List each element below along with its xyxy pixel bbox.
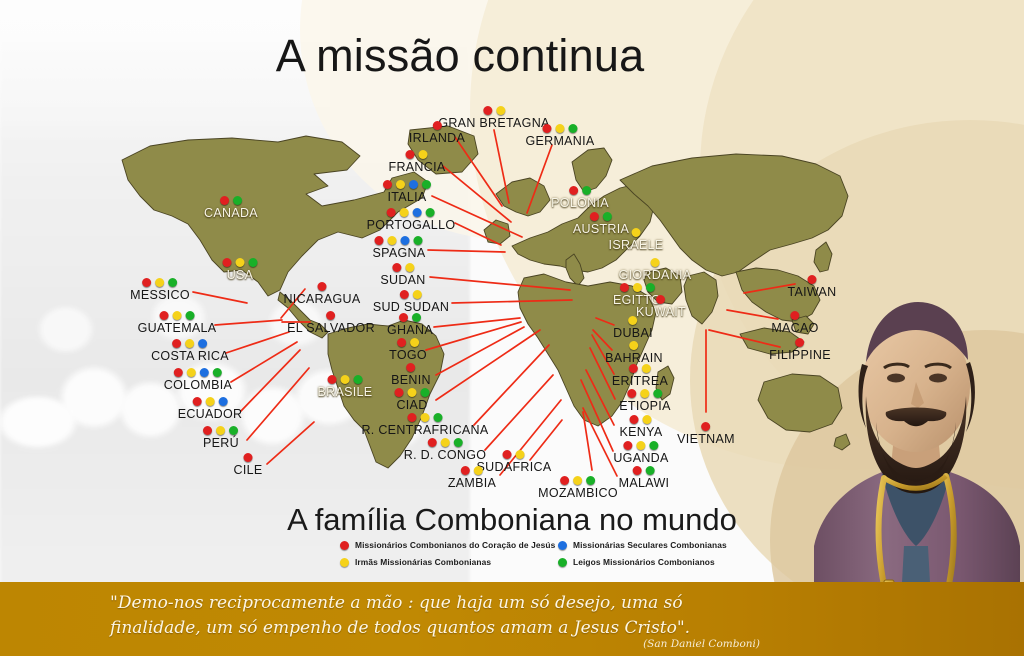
dot-red-icon (569, 186, 578, 195)
legend-swatch-red-icon (340, 541, 349, 550)
dot-green-icon (650, 441, 659, 450)
country-label-mozambico[interactable]: MOZAMBICO (538, 476, 618, 499)
country-label-irlanda[interactable]: IRLANDA (409, 121, 465, 144)
dot-red-icon (173, 339, 182, 348)
dot-red-icon (387, 208, 396, 217)
presence-dots (619, 389, 670, 399)
country-label-spagna[interactable]: SPAGNA (373, 236, 426, 259)
country-label-guatemala[interactable]: GUATEMALA (138, 311, 217, 334)
dot-red-icon (375, 236, 384, 245)
country-name: USA (223, 269, 258, 281)
dot-green-icon (646, 466, 655, 475)
country-name: TOGO (389, 349, 427, 361)
presence-dots (151, 339, 229, 349)
dot-red-icon (318, 282, 327, 291)
legend-item-yellow: Irmãs Missionárias Combonianas (340, 557, 558, 567)
country-label-israele[interactable]: ISRAELE (609, 228, 664, 251)
dot-yellow-icon (632, 283, 641, 292)
country-label-giordania[interactable]: GIORDANIA (619, 258, 692, 281)
country-name: BENIN (391, 374, 431, 386)
dot-red-icon (629, 364, 638, 373)
presence-dots (619, 466, 670, 476)
dot-yellow-icon (474, 466, 483, 475)
country-name: SPAGNA (373, 247, 426, 259)
presence-dots (138, 311, 217, 321)
page-title: A missão continua (0, 30, 920, 82)
dot-green-icon (412, 313, 421, 322)
country-label-colombia[interactable]: COLOMBIA (164, 368, 232, 391)
legend-item-red: Missionários Combonianos do Coração de J… (340, 540, 558, 550)
dot-yellow-icon (173, 311, 182, 320)
dot-yellow-icon (574, 476, 583, 485)
dot-yellow-icon (419, 150, 428, 159)
dot-red-icon (630, 415, 639, 424)
dot-yellow-icon (628, 316, 637, 325)
presence-dots (404, 438, 486, 448)
country-name: GHANA (387, 324, 433, 336)
dot-red-icon (392, 263, 401, 272)
presence-dots (477, 450, 552, 460)
dot-red-icon (395, 388, 404, 397)
country-name: MESSICO (130, 289, 190, 301)
country-label-el-salvador[interactable]: EL SALVADOR (287, 311, 375, 334)
dot-yellow-icon (400, 208, 409, 217)
dot-yellow-icon (413, 290, 422, 299)
dot-red-icon (143, 278, 152, 287)
country-name: POLONIA (551, 197, 609, 209)
dot-red-icon (633, 466, 642, 475)
dot-red-icon (192, 397, 201, 406)
country-label-bahrain[interactable]: BAHRAIN (605, 341, 663, 364)
dot-red-icon (220, 196, 229, 205)
dot-yellow-icon (388, 236, 397, 245)
dot-red-icon (590, 212, 599, 221)
country-name: COLOMBIA (164, 379, 232, 391)
country-name: CANADA (204, 207, 258, 219)
dot-red-icon (796, 338, 805, 347)
dot-blue-icon (409, 180, 418, 189)
country-name: MOZAMBICO (538, 487, 618, 499)
presence-dots (130, 278, 190, 288)
dot-yellow-icon (410, 338, 419, 347)
country-name: CIAD (395, 399, 430, 411)
country-name: PORTOGALLO (367, 219, 456, 231)
dot-yellow-icon (156, 278, 165, 287)
presence-dots (613, 441, 668, 451)
presence-dots (391, 363, 431, 373)
country-label-germania[interactable]: GERMANIA (525, 124, 594, 147)
country-name: IRLANDA (409, 132, 465, 144)
dot-red-icon (174, 368, 183, 377)
presence-dots (178, 397, 243, 407)
presence-dots (620, 415, 663, 425)
presence-dots (287, 311, 375, 321)
dot-yellow-icon (632, 228, 641, 237)
dot-green-icon (233, 196, 242, 205)
dot-blue-icon (401, 236, 410, 245)
dot-yellow-icon (205, 397, 214, 406)
dot-yellow-icon (637, 441, 646, 450)
dot-red-icon (619, 283, 628, 292)
country-label-kenya[interactable]: KENYA (620, 415, 663, 438)
dot-red-icon (791, 311, 800, 320)
dot-blue-icon (413, 208, 422, 217)
presence-dots (636, 295, 686, 305)
legend-swatch-blue-icon (558, 541, 567, 550)
presence-dots (619, 258, 692, 268)
presence-dots (389, 150, 446, 160)
country-label-brasile[interactable]: BRASILE (318, 375, 373, 398)
country-name: R. D. CONGO (404, 449, 486, 461)
dot-yellow-icon (516, 450, 525, 459)
country-label-per[interactable]: PERÚ (203, 426, 239, 449)
country-name: VIETNAM (677, 433, 735, 445)
dot-red-icon (433, 121, 442, 130)
presence-dots (389, 338, 427, 348)
country-name: ECUADOR (178, 408, 243, 420)
presence-dots (383, 180, 431, 190)
presence-dots (609, 228, 664, 238)
dot-red-icon (328, 375, 337, 384)
country-label-zambia[interactable]: ZAMBIA (448, 466, 496, 489)
dot-green-icon (645, 283, 654, 292)
dot-red-icon (383, 180, 392, 189)
presence-dots (409, 121, 465, 131)
country-name: GUATEMALA (138, 322, 217, 334)
country-label-portogallo[interactable]: PORTOGALLO (367, 208, 456, 231)
dot-red-icon (701, 422, 710, 431)
legend-item-blue: Missionárias Seculares Combonianas (558, 540, 770, 550)
country-name: FRANCIA (389, 161, 446, 173)
map-legend: Missionários Combonianos do Coração de J… (340, 540, 770, 567)
country-label-messico[interactable]: MESSICO (130, 278, 190, 301)
dot-green-icon (169, 278, 178, 287)
country-name: MALAWI (619, 477, 670, 489)
presence-dots (613, 283, 661, 293)
dot-blue-icon (200, 368, 209, 377)
legend-label: Irmãs Missionárias Combonianas (355, 557, 491, 567)
country-name: ETIOPIA (619, 400, 670, 412)
presence-dots (551, 186, 609, 196)
country-label-polonia[interactable]: POLONIA (551, 186, 609, 209)
dot-red-icon (483, 106, 492, 115)
dot-red-icon (428, 438, 437, 447)
country-label-dubai[interactable]: DUBAI (613, 316, 653, 339)
dot-green-icon (186, 311, 195, 320)
presence-dots (373, 290, 449, 300)
country-label-ecuador[interactable]: ECUADOR (178, 397, 243, 420)
dot-red-icon (503, 450, 512, 459)
dot-red-icon (406, 150, 415, 159)
dot-green-icon (213, 368, 222, 377)
country-label-malawi[interactable]: MALAWI (619, 466, 670, 489)
dot-yellow-icon (187, 368, 196, 377)
dot-red-icon (399, 313, 408, 322)
country-label-r-centrafricana[interactable]: R. CENTRAFRICANA (361, 413, 488, 436)
country-label-etiopia[interactable]: ETIOPIA (619, 389, 670, 412)
dot-green-icon (426, 208, 435, 217)
country-label-uganda[interactable]: UGANDA (613, 441, 668, 464)
presence-dots (234, 453, 263, 463)
legend-item-green: Leigos Missionários Combonianos (558, 557, 770, 567)
country-label-sud-sudan[interactable]: SUD SUDAN (373, 290, 449, 313)
presence-dots (538, 476, 618, 486)
legend-label: Missionários Combonianos do Coração de J… (355, 540, 555, 550)
presence-dots (373, 236, 426, 246)
presence-dots (380, 263, 425, 273)
presence-dots (361, 413, 488, 423)
country-label-eritrea[interactable]: ERITREA (612, 364, 668, 387)
dot-yellow-icon (396, 180, 405, 189)
country-name: NICARAGUA (283, 293, 360, 305)
quote-text: "Demo-nos reciprocamente a mão : que haj… (110, 591, 760, 641)
dot-red-icon (397, 338, 406, 347)
presence-dots (605, 341, 663, 351)
presence-dots (438, 106, 549, 116)
dot-yellow-icon (640, 389, 649, 398)
country-label-sudan[interactable]: SUDAN (380, 263, 425, 286)
dot-green-icon (454, 438, 463, 447)
dot-green-icon (653, 389, 662, 398)
dot-red-icon (223, 258, 232, 267)
presence-dots (612, 364, 668, 374)
presence-dots (677, 422, 735, 432)
dot-yellow-icon (421, 413, 430, 422)
country-name: ZAMBIA (448, 477, 496, 489)
presence-dots (387, 313, 433, 323)
country-name: R. CENTRAFRICANA (361, 424, 488, 436)
country-name: KENYA (620, 426, 663, 438)
legend-label: Missionárias Seculares Combonianas (573, 540, 727, 550)
country-name: GIORDANIA (619, 269, 692, 281)
dot-red-icon (561, 476, 570, 485)
dot-green-icon (354, 375, 363, 384)
country-label-nicaragua[interactable]: NICARAGUA (283, 282, 360, 305)
dot-red-icon (326, 311, 335, 320)
dot-yellow-icon (496, 106, 505, 115)
dot-yellow-icon (629, 341, 638, 350)
dot-red-icon (400, 290, 409, 299)
dot-yellow-icon (341, 375, 350, 384)
dot-yellow-icon (642, 364, 651, 373)
country-label-ciad[interactable]: CIAD (395, 388, 430, 411)
country-name: ISRAELE (609, 239, 664, 251)
presence-dots (318, 375, 373, 385)
country-name: ERITREA (612, 375, 668, 387)
country-name: PERÚ (203, 437, 239, 449)
country-name: COSTA RICA (151, 350, 229, 362)
legend-swatch-yellow-icon (340, 558, 349, 567)
presence-dots (613, 316, 653, 326)
country-name: BAHRAIN (605, 352, 663, 364)
legend-swatch-green-icon (558, 558, 567, 567)
dot-blue-icon (218, 397, 227, 406)
country-name: BRASILE (318, 386, 373, 398)
presence-dots (525, 124, 594, 134)
dot-yellow-icon (643, 415, 652, 424)
country-name: CILE (234, 464, 263, 476)
dot-green-icon (414, 236, 423, 245)
presence-dots (223, 258, 258, 268)
dot-yellow-icon (408, 388, 417, 397)
country-name: UGANDA (613, 452, 668, 464)
dot-green-icon (434, 413, 443, 422)
dot-green-icon (422, 180, 431, 189)
country-name: EL SALVADOR (287, 322, 375, 334)
presence-dots (573, 212, 629, 222)
dot-green-icon (603, 212, 612, 221)
country-name: GERMANIA (525, 135, 594, 147)
country-name: SUDAN (380, 274, 425, 286)
dot-green-icon (249, 258, 258, 267)
country-label-kuwait[interactable]: KUWAIT (636, 295, 686, 318)
country-label-benin[interactable]: BENIN (391, 363, 431, 386)
legend-label: Leigos Missionários Combonianos (573, 557, 715, 567)
dot-red-icon (542, 124, 551, 133)
dot-red-icon (160, 311, 169, 320)
dot-red-icon (656, 295, 665, 304)
country-label-usa[interactable]: USA (223, 258, 258, 281)
presence-dots (395, 388, 430, 398)
country-label-canada[interactable]: CANADA (204, 196, 258, 219)
dot-green-icon (230, 426, 239, 435)
country-label-cile[interactable]: CILE (234, 453, 263, 476)
dot-blue-icon (199, 339, 208, 348)
presence-dots (367, 208, 456, 218)
dot-green-icon (587, 476, 596, 485)
presence-dots (204, 196, 258, 206)
presence-dots (203, 426, 239, 436)
dot-red-icon (624, 441, 633, 450)
dot-yellow-icon (217, 426, 226, 435)
dot-red-icon (406, 363, 415, 372)
dot-red-icon (408, 413, 417, 422)
country-name: ITALIA (383, 191, 431, 203)
country-label-togo[interactable]: TOGO (389, 338, 427, 361)
dot-yellow-icon (555, 124, 564, 133)
country-label-francia[interactable]: FRANCIA (389, 150, 446, 173)
dot-green-icon (582, 186, 591, 195)
dot-yellow-icon (650, 258, 659, 267)
dot-red-icon (204, 426, 213, 435)
dot-red-icon (461, 466, 470, 475)
presence-dots (164, 368, 232, 378)
country-label-r-d-congo[interactable]: R. D. CONGO (404, 438, 486, 461)
country-label-ghana[interactable]: GHANA (387, 313, 433, 336)
quote-banner: "Demo-nos reciprocamente a mão : que haj… (0, 582, 1024, 656)
country-label-vietnam[interactable]: VIETNAM (677, 422, 735, 445)
presence-dots (448, 466, 496, 476)
dot-green-icon (568, 124, 577, 133)
dot-red-icon (627, 389, 636, 398)
country-label-costa-rica[interactable]: COSTA RICA (151, 339, 229, 362)
dot-green-icon (421, 388, 430, 397)
country-name: DUBAI (613, 327, 653, 339)
dot-yellow-icon (186, 339, 195, 348)
poster-canvas: A missão continua CANADAUSAMESSICONICARA… (0, 0, 1024, 656)
presence-dots (283, 282, 360, 292)
country-name: SUD SUDAN (373, 301, 449, 313)
dot-yellow-icon (236, 258, 245, 267)
dot-yellow-icon (405, 263, 414, 272)
quote-source: (San Daniel Comboni) (440, 638, 760, 650)
country-label-italia[interactable]: ITALIA (383, 180, 431, 203)
dot-red-icon (244, 453, 253, 462)
dot-yellow-icon (441, 438, 450, 447)
